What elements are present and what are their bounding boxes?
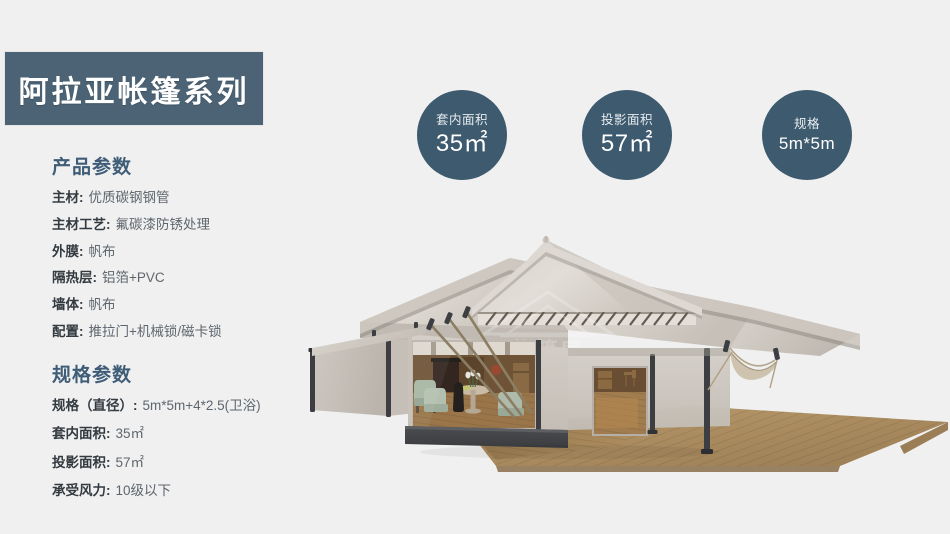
spec-label: 主材工艺: <box>52 215 111 235</box>
spec-value: 10级以下 <box>116 481 172 501</box>
spec-value: 推拉门+机械锁/磁卡锁 <box>89 322 222 342</box>
series-title-banner: 阿拉亚帐篷系列 <box>5 52 263 125</box>
spec-value: 帆布 <box>89 295 116 315</box>
product-parameters-heading: 产品参数 <box>52 152 352 179</box>
spec-label: 套内面积: <box>52 424 111 444</box>
spec-value: 57㎡ <box>116 453 145 473</box>
stat-value: 57㎡ <box>601 132 653 156</box>
spec-label: 承受风力: <box>52 481 111 501</box>
stat-circle-indoor-area: 套内面积 35㎡ <box>417 90 507 180</box>
page-root: 阿拉亚帐篷系列 产品参数 主材: 优质碳钢钢管 主材工艺: 氟碳漆防锈处理 外膜… <box>0 0 950 534</box>
ground-shadow <box>420 445 720 459</box>
spec-label: 墙体: <box>52 295 84 315</box>
upper-pyramid-roof <box>472 236 702 325</box>
spec-label: 投影面积: <box>52 453 111 473</box>
spec-label: 隔热层: <box>52 268 97 288</box>
spec-value: 帆布 <box>89 242 116 262</box>
stat-value: 5m*5m <box>779 135 835 152</box>
spec-value: 35㎡ <box>116 424 145 444</box>
stat-label: 投影面积 <box>601 114 653 127</box>
stat-value: 35㎡ <box>436 132 488 156</box>
spec-value: 氟碳漆防锈处理 <box>116 215 211 235</box>
spec-label: 外膜: <box>52 242 84 262</box>
stat-circle-dimensions: 规格 5m*5m <box>762 90 852 180</box>
spec-value: 5m*5m+4*2.5(卫浴) <box>143 396 261 416</box>
tent-illustration: 帐篷房 HOTEL TENT <box>300 230 950 520</box>
spec-row: 主材: 优质碳钢钢管 <box>52 188 352 208</box>
spec-value: 铝箔+PVC <box>102 268 165 288</box>
spec-label: 主材: <box>52 188 84 208</box>
tent-front-facade <box>405 334 568 448</box>
spec-label: 规格（直径）: <box>52 396 138 416</box>
stat-circle-projected-area: 投影面积 57㎡ <box>582 90 672 180</box>
spec-label: 配置: <box>52 322 84 342</box>
series-title-text: 阿拉亚帐篷系列 <box>19 67 250 111</box>
stat-label: 规格 <box>794 118 820 131</box>
spec-value: 优质碳钢钢管 <box>89 188 170 208</box>
stat-label: 套内面积 <box>436 114 488 127</box>
